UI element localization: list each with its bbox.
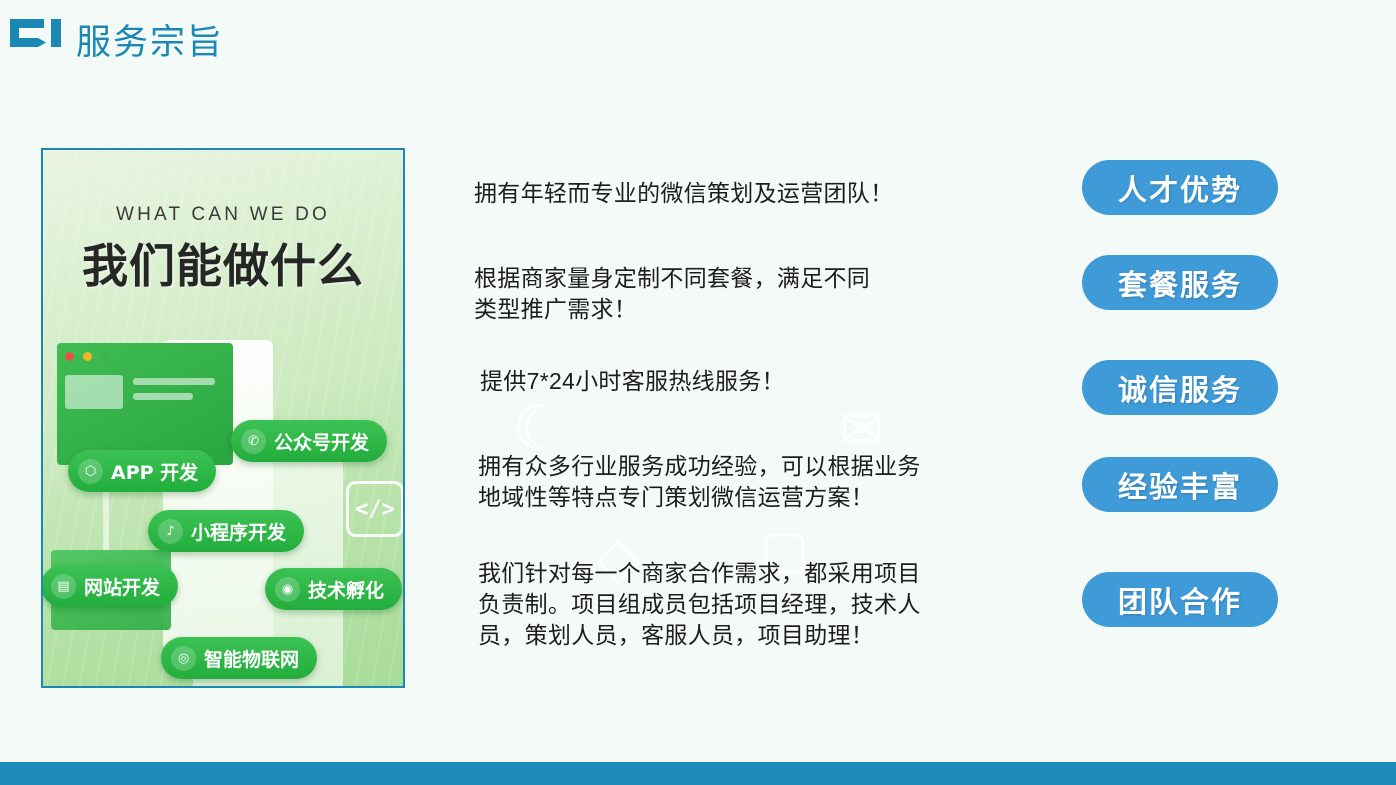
- pill-label: APP 开发: [111, 458, 198, 485]
- paragraph-integrity: 提供7*24小时客服热线服务！: [480, 366, 785, 397]
- promo-image-card: WHAT CAN WE DO 我们能做什么 </> ⚛ ✆ 公众号开发 ⬡ AP…: [41, 148, 405, 688]
- slide-root: ☾ ✉ ◇ ▢ 服务宗旨 WHAT CAN WE DO 我们能做什么: [0, 0, 1396, 785]
- illustration-content-bar: [133, 393, 193, 400]
- paragraph-experience: 拥有众多行业服务成功经验，可以根据业务 地域性等特点专门策划微信运营方案！: [478, 451, 921, 513]
- illustration-window-dots: [65, 352, 110, 361]
- pill-label: 公众号开发: [274, 428, 369, 455]
- button-rich-experience[interactable]: 经验丰富: [1082, 457, 1278, 512]
- pill-app: ⬡ APP 开发: [68, 450, 216, 492]
- card-heading: 我们能做什么: [43, 230, 403, 296]
- logo-51-icon: [10, 17, 66, 57]
- pill-label: 小程序开发: [191, 518, 286, 545]
- paragraph-package: 根据商家量身定制不同套餐，满足不同 类型推广需求！: [474, 263, 870, 325]
- wechat-icon: ✆: [241, 429, 266, 454]
- footer-bar: [0, 762, 1396, 785]
- header: 服务宗旨: [0, 0, 1396, 78]
- cube-icon: ⬡: [78, 459, 103, 484]
- page-title: 服务宗旨: [76, 14, 224, 65]
- pill-gongzhonghao: ✆ 公众号开发: [231, 420, 387, 462]
- button-package-service[interactable]: 套餐服务: [1082, 255, 1278, 310]
- pill-iot: ◎ 智能物联网: [161, 637, 317, 679]
- code-badge-icon: </>: [346, 481, 404, 537]
- illustration-content-bar: [133, 378, 215, 385]
- pill-website: ▤ 网站开发: [41, 565, 178, 607]
- chip-icon: ◎: [171, 646, 196, 671]
- button-integrity-service[interactable]: 诚信服务: [1082, 360, 1278, 415]
- pill-incubation: ◉ 技术孵化: [265, 568, 402, 610]
- button-talent-advantage[interactable]: 人才优势: [1082, 160, 1278, 215]
- pill-label: 智能物联网: [204, 645, 299, 672]
- pill-miniprogram: ♪ 小程序开发: [148, 510, 304, 552]
- location-pin-icon: ◉: [275, 577, 300, 602]
- monitor-code-icon: ▤: [51, 574, 76, 599]
- button-team-cooperation[interactable]: 团队合作: [1082, 572, 1278, 627]
- paragraph-talent: 拥有年轻而专业的微信策划及运营团队！: [474, 178, 893, 209]
- pill-label: 网站开发: [84, 573, 160, 600]
- paragraph-teamwork: 我们针对每一个商家合作需求，都采用项目 负责制。项目组成员包括项目经理，技术人 …: [478, 558, 921, 651]
- card-kicker: WHAT CAN WE DO: [43, 204, 403, 226]
- envelope-icon: ✉: [840, 404, 884, 456]
- illustration-content-bar: [65, 375, 123, 409]
- music-note-icon: ♪: [158, 519, 183, 544]
- pill-label: 技术孵化: [308, 576, 384, 603]
